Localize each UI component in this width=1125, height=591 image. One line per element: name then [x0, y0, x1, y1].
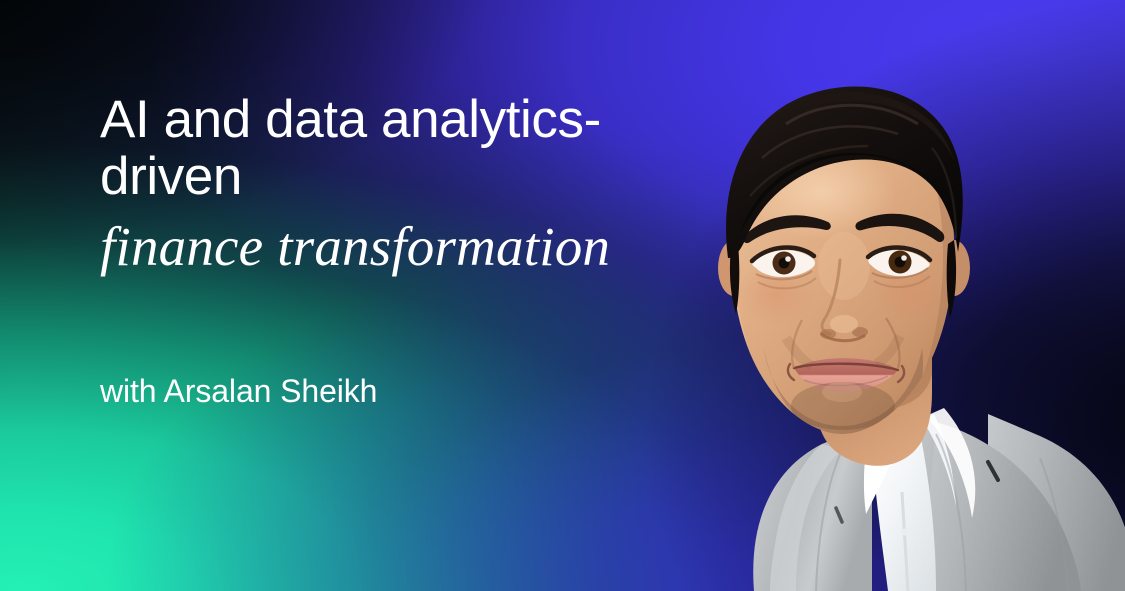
- text-block: AI and data analytics- driven finance tr…: [100, 92, 740, 410]
- suit-jacket: [753, 408, 1125, 591]
- headline: AI and data analytics- driven: [100, 92, 740, 205]
- presenter-credit: with Arsalan Sheikh: [100, 373, 740, 410]
- head: [718, 86, 970, 436]
- promo-banner: AI and data analytics- driven finance tr…: [0, 0, 1125, 591]
- subheadline: finance transformation: [100, 216, 740, 278]
